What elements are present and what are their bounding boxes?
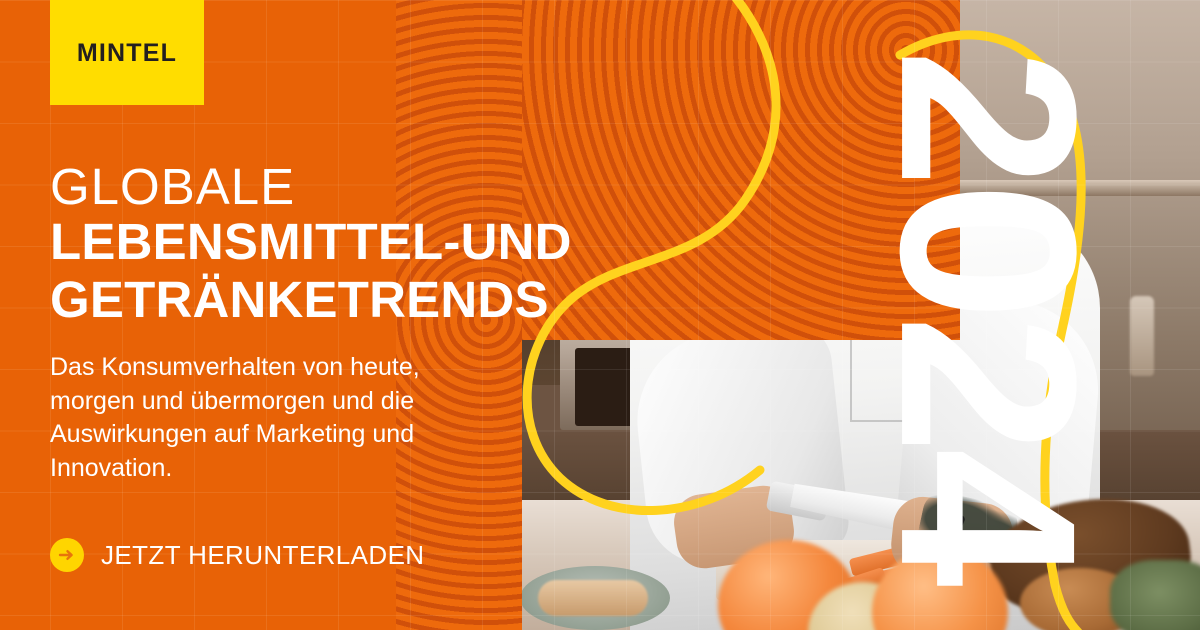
headline-line-1: GLOBALE (50, 160, 580, 213)
arrow-right-icon (50, 538, 84, 572)
headline-line-3: GETRÄNKETRENDS (50, 271, 580, 329)
year-badge: 2024 (888, 49, 1088, 581)
download-cta-label: JETZT HERUNTERLADEN (101, 540, 425, 571)
promo-banner: 2024 MINTEL GLOBALE LEBENSMITTEL-UND GET… (0, 0, 1200, 630)
mintel-logo[interactable]: MINTEL (50, 0, 204, 105)
subtitle-text: Das Konsumverhalten von heute, morgen un… (50, 351, 480, 485)
mintel-logo-text: MINTEL (77, 29, 177, 68)
headline-line-2: LEBENSMITTEL-UND (50, 213, 580, 271)
headline-block: GLOBALE LEBENSMITTEL-UND GETRÄNKETRENDS … (50, 160, 580, 485)
download-cta-button[interactable]: JETZT HERUNTERLADEN (50, 538, 425, 572)
